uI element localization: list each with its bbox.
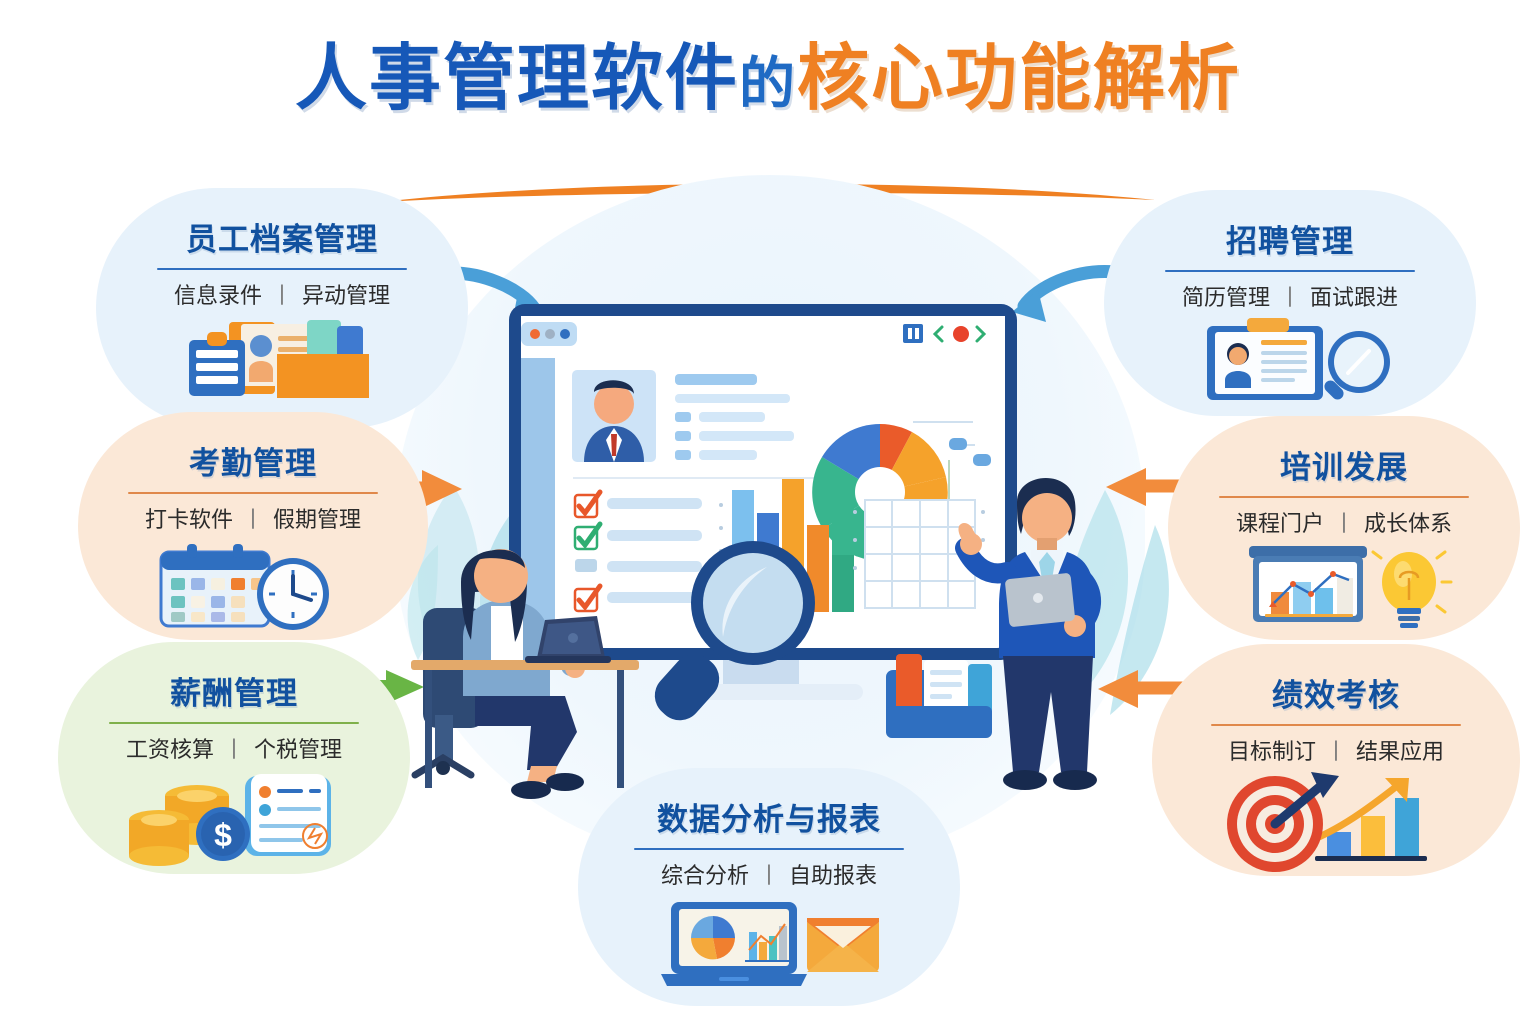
card-recruit[interactable]: 招聘管理 简历管理丨面试跟进 bbox=[1104, 190, 1476, 416]
card-report-sub-left: 综合分析 bbox=[661, 863, 749, 888]
card-salary-title: 考勤管理 bbox=[189, 438, 317, 483]
card-salary-sub-sep: 丨 bbox=[233, 507, 273, 532]
card-recruit-rule bbox=[1165, 270, 1415, 272]
clipboard-idcard-folder-icon bbox=[177, 316, 387, 408]
file-folders-icon bbox=[878, 650, 1008, 745]
infographic-canvas: 人事管理软件的核心功能解析 bbox=[0, 0, 1536, 1024]
card-training-rule bbox=[1219, 496, 1469, 498]
card-salary-sub-right: 假期管理 bbox=[273, 507, 361, 532]
card-employee-subtitle: 信息录件丨异动管理 bbox=[174, 278, 390, 310]
card-payroll-title: 薪酬管理 bbox=[170, 668, 298, 713]
window-dot-1 bbox=[530, 329, 540, 339]
card-employee-rule bbox=[157, 268, 407, 270]
presentation-lightbulb-icon bbox=[1237, 544, 1452, 636]
card-salary[interactable]: 考勤管理 打卡软件丨假期管理 bbox=[78, 412, 428, 640]
man-presenting-with-tablet bbox=[955, 468, 1145, 808]
magnifier-icon bbox=[645, 535, 835, 720]
card-perf-sub-left: 目标制订 bbox=[1228, 739, 1316, 764]
card-perf-rule bbox=[1211, 724, 1461, 726]
card-report-sub-right: 自助报表 bbox=[789, 863, 877, 888]
card-training-sub-sep: 丨 bbox=[1324, 511, 1364, 536]
card-report-rule bbox=[634, 848, 904, 850]
card-report-title: 数据分析与报表 bbox=[657, 794, 881, 839]
card-recruit-sub-left: 简历管理 bbox=[1182, 285, 1270, 310]
card-employee-title: 员工档案管理 bbox=[186, 214, 378, 259]
svg-text:$: $ bbox=[214, 817, 232, 853]
card-report-subtitle: 综合分析丨自助报表 bbox=[661, 858, 877, 890]
title-segment-mid: 的 bbox=[739, 52, 797, 115]
card-employee-sub-right: 异动管理 bbox=[302, 283, 390, 308]
card-employee-sub-sep: 丨 bbox=[262, 283, 302, 308]
card-payroll-sub-right: 个税管理 bbox=[254, 737, 342, 762]
window-dot-3 bbox=[560, 329, 570, 339]
card-training-subtitle: 课程门户丨成长体系 bbox=[1236, 506, 1452, 538]
card-perf-title: 绩效考核 bbox=[1272, 670, 1400, 715]
card-recruit-title: 招聘管理 bbox=[1226, 216, 1354, 261]
card-perf-sub-sep: 丨 bbox=[1316, 739, 1356, 764]
card-payroll-rule bbox=[109, 722, 359, 724]
resume-magnifier-icon bbox=[1183, 318, 1398, 406]
window-dot-2 bbox=[545, 329, 555, 339]
grid-icon bbox=[903, 324, 923, 343]
card-salary-subtitle: 打卡软件丨假期管理 bbox=[145, 502, 361, 534]
record-icon bbox=[953, 326, 969, 342]
title-segment-blue: 人事管理软件 bbox=[295, 39, 739, 119]
laptop-charts-envelope-icon bbox=[657, 896, 882, 990]
card-payroll-subtitle: 工资核算丨个税管理 bbox=[126, 732, 342, 764]
card-perf[interactable]: 绩效考核 目标制订丨结果应用 bbox=[1152, 644, 1520, 876]
card-recruit-sub-sep: 丨 bbox=[1270, 285, 1310, 310]
card-salary-rule bbox=[128, 492, 378, 494]
woman-at-desk-with-laptop bbox=[405, 520, 675, 810]
card-employee[interactable]: 员工档案管理 信息录件丨异动管理 bbox=[96, 188, 468, 428]
card-recruit-subtitle: 简历管理丨面试跟进 bbox=[1182, 280, 1398, 312]
target-arrow-growth-icon bbox=[1219, 772, 1454, 866]
card-perf-sub-right: 结果应用 bbox=[1356, 739, 1444, 764]
calendar-clock-icon bbox=[153, 540, 353, 632]
coins-dollar-invoice-icon: $ bbox=[119, 770, 349, 866]
card-perf-subtitle: 目标制订丨结果应用 bbox=[1228, 734, 1444, 766]
card-training[interactable]: 培训发展 课程门户丨成长体系 bbox=[1168, 416, 1520, 640]
card-recruit-sub-right: 面试跟进 bbox=[1310, 285, 1398, 310]
card-training-title: 培训发展 bbox=[1280, 442, 1408, 487]
card-report[interactable]: 数据分析与报表 综合分析丨自助报表 bbox=[578, 768, 960, 1006]
card-payroll[interactable]: 薪酬管理 工资核算丨个税管理 bbox=[58, 642, 410, 874]
card-employee-sub-left: 信息录件 bbox=[174, 283, 262, 308]
page-title: 人事管理软件的核心功能解析 bbox=[0, 42, 1536, 118]
card-salary-sub-left: 打卡软件 bbox=[145, 507, 233, 532]
title-segment-orange: 核心功能解析 bbox=[797, 39, 1241, 119]
card-payroll-sub-sep: 丨 bbox=[214, 737, 254, 762]
card-report-sub-sep: 丨 bbox=[749, 863, 789, 888]
card-training-sub-right: 成长体系 bbox=[1364, 511, 1452, 536]
card-training-sub-left: 课程门户 bbox=[1236, 511, 1324, 536]
card-payroll-sub-left: 工资核算 bbox=[126, 737, 214, 762]
